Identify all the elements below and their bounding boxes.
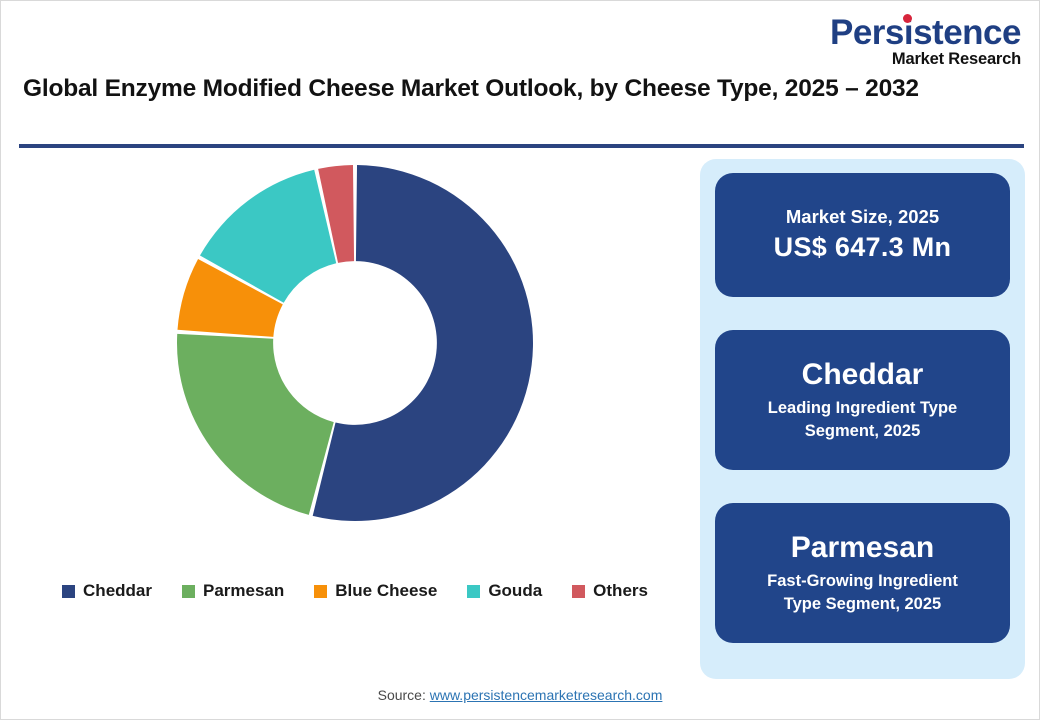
leading-segment-sub-line2: Segment, 2025 (805, 420, 921, 442)
legend-swatch-icon (62, 585, 75, 598)
legend-label: Gouda (488, 581, 542, 601)
legend-label: Others (593, 581, 648, 601)
legend-item-parmesan[interactable]: Parmesan (182, 581, 284, 601)
brand-name: Persistence (830, 15, 1021, 50)
market-size-value: US$ 647.3 Mn (774, 230, 952, 265)
infographic-root: Persistence Market Research Global Enzym… (0, 0, 1040, 720)
fastest-growing-segment-name: Parmesan (791, 531, 934, 566)
legend-item-blue-cheese[interactable]: Blue Cheese (314, 581, 437, 601)
leading-segment-sub-line1: Leading Ingredient Type (768, 397, 957, 419)
logo-dot-icon (903, 14, 912, 23)
donut-slices (177, 165, 533, 521)
source-line: Source: www.persistencemarketresearch.co… (1, 687, 1039, 703)
donut-chart-svg (155, 153, 555, 543)
stat-card-market-size: Market Size, 2025 US$ 647.3 Mn (715, 173, 1010, 297)
brand-logo: Persistence Market Research (830, 15, 1021, 68)
legend-swatch-icon (182, 585, 195, 598)
chart-legend: CheddarParmesanBlue CheeseGoudaOthers (15, 581, 695, 601)
source-link[interactable]: www.persistencemarketresearch.com (430, 687, 663, 703)
legend-swatch-icon (314, 585, 327, 598)
stat-card-fastest-growing-segment: Parmesan Fast-Growing Ingredient Type Se… (715, 503, 1010, 643)
donut-chart (15, 153, 695, 543)
legend-label: Parmesan (203, 581, 284, 601)
legend-swatch-icon (572, 585, 585, 598)
stats-panel: Market Size, 2025 US$ 647.3 Mn Cheddar L… (700, 159, 1025, 679)
stat-card-leading-segment: Cheddar Leading Ingredient Type Segment,… (715, 330, 1010, 470)
legend-label: Blue Cheese (335, 581, 437, 601)
donut-slice-parmesan[interactable] (177, 334, 334, 515)
fastest-growing-sub-line2: Type Segment, 2025 (784, 593, 941, 615)
legend-item-gouda[interactable]: Gouda (467, 581, 542, 601)
title-divider (19, 144, 1024, 148)
legend-label: Cheddar (83, 581, 152, 601)
legend-item-others[interactable]: Others (572, 581, 648, 601)
page-title: Global Enzyme Modified Cheese Market Out… (23, 73, 923, 105)
market-size-label: Market Size, 2025 (786, 205, 939, 228)
chart-area: CheddarParmesanBlue CheeseGoudaOthers (15, 153, 695, 623)
legend-item-cheddar[interactable]: Cheddar (62, 581, 152, 601)
legend-swatch-icon (467, 585, 480, 598)
source-label: Source: (378, 687, 430, 703)
leading-segment-name: Cheddar (802, 358, 924, 393)
fastest-growing-sub-line1: Fast-Growing Ingredient (767, 570, 958, 592)
brand-tagline: Market Research (830, 51, 1021, 68)
